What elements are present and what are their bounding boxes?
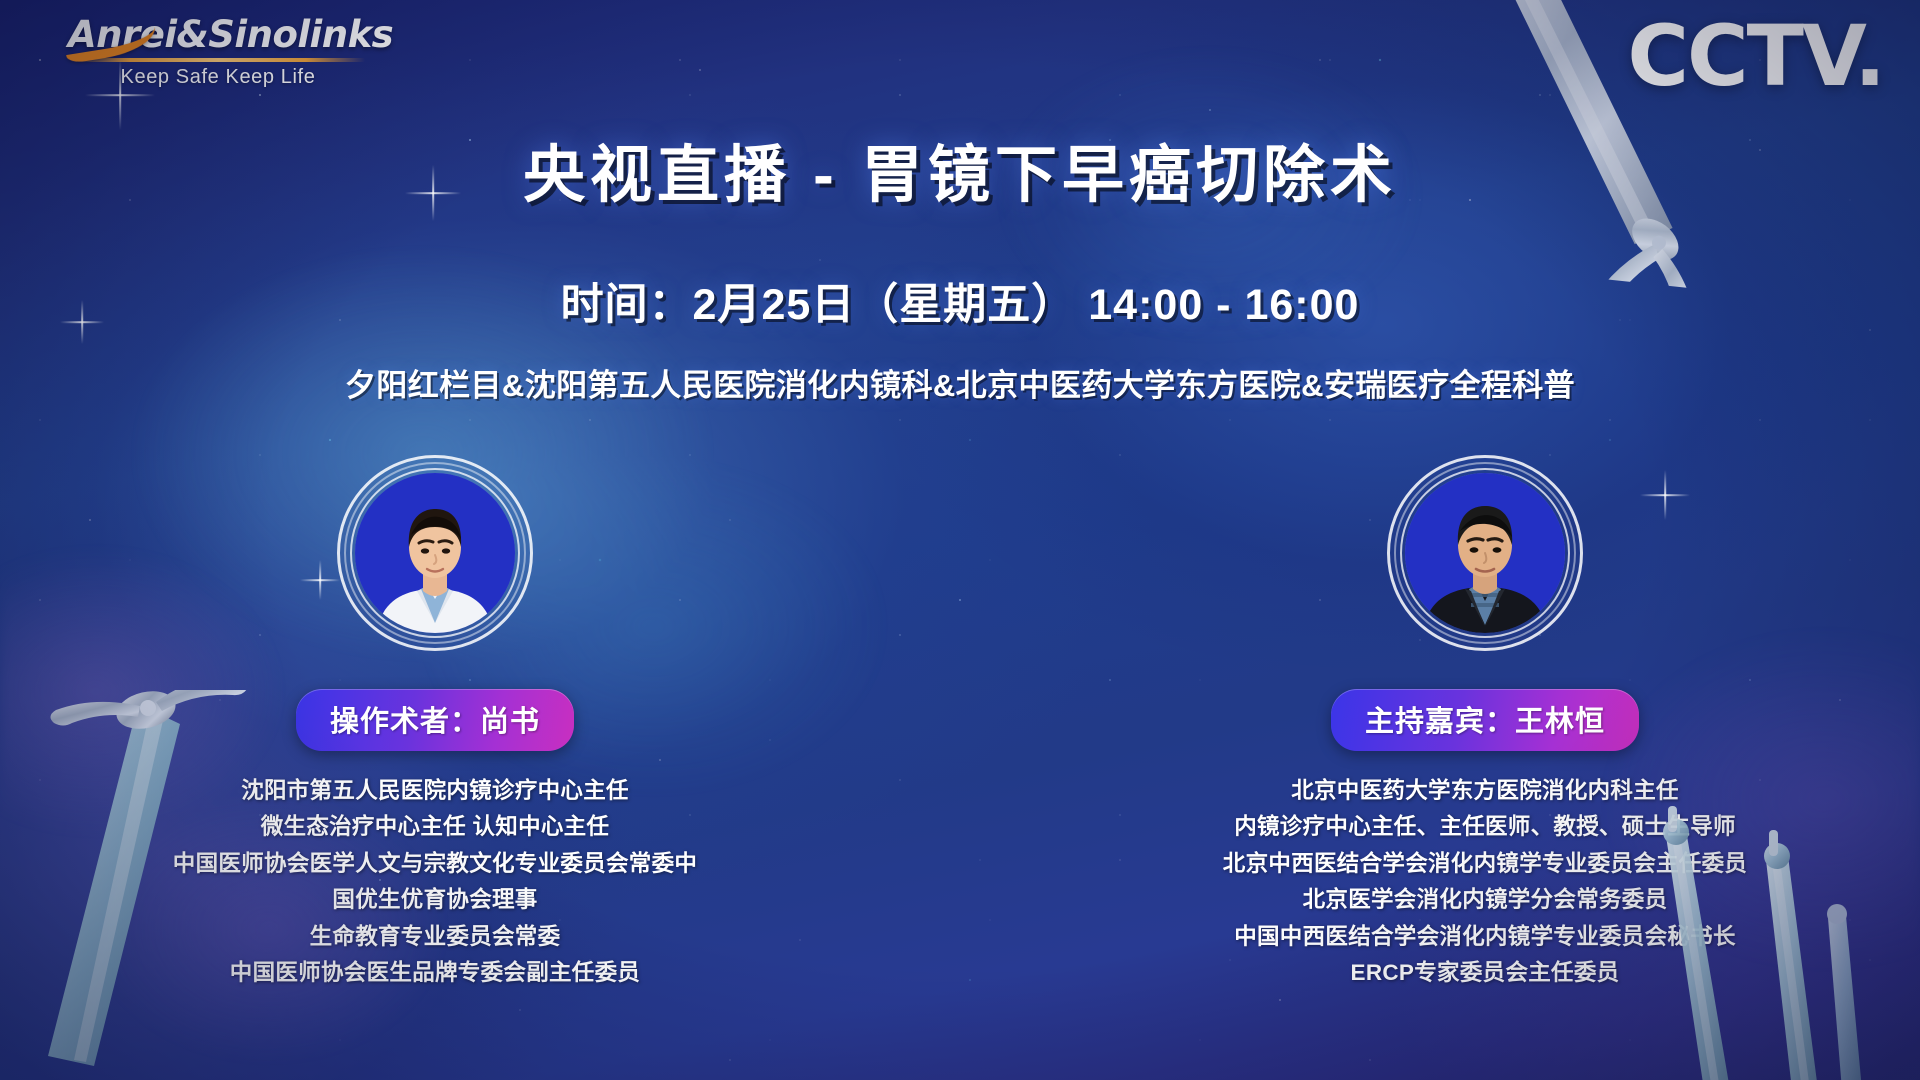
speaker-name-badge-host: 主持嘉宾：王林恒	[1331, 689, 1639, 751]
speaker-card-host: 主持嘉宾：王林恒 北京中医药大学东方医院消化内科主任 内镜诊疗中心主任、主任医师…	[1175, 455, 1795, 992]
event-partners: 夕阳红栏目&沈阳第五人民医院消化内镜科&北京中医药大学东方医院&安瑞医疗全程科普	[0, 360, 1920, 405]
bio-line: 中国中西医结合学会消化内镜学专业委员会秘书长	[1175, 919, 1795, 955]
brand-divider-rule	[71, 58, 365, 62]
bio-line: 生命教育专业委员会常委	[125, 919, 745, 955]
bio-line: ERCP专家委员会主任委员	[1175, 955, 1795, 991]
speaker-bio-host: 北京中医药大学东方医院消化内科主任 内镜诊疗中心主任、主任医师、教授、硕士生导师…	[1175, 773, 1795, 992]
speaker-name-badge-operator: 操作术者：尚书	[296, 689, 574, 751]
bio-line: 北京中医药大学东方医院消化内科主任	[1175, 773, 1795, 809]
bio-line: 中国医师协会医生品牌专委会副主任委员	[125, 955, 745, 991]
avatar	[1387, 455, 1583, 651]
avatar-photo-operator	[355, 473, 515, 633]
bio-line: 内镜诊疗中心主任、主任医师、教授、硕士生导师	[1175, 809, 1795, 845]
bio-line: 沈阳市第五人民医院内镜诊疗中心主任	[125, 773, 745, 809]
event-time: 时间：2月25日（星期五） 14:00 - 16:00	[0, 270, 1920, 332]
speaker-bio-operator: 沈阳市第五人民医院内镜诊疗中心主任 微生态治疗中心主任 认知中心主任 中国医师协…	[125, 773, 745, 992]
avatar-photo-host	[1405, 473, 1565, 633]
bio-line: 微生态治疗中心主任 认知中心主任	[125, 809, 745, 845]
live-broadcast-poster: Anrei&Sinolinks Keep Safe Keep Life CCTV…	[0, 0, 1920, 1080]
page-title: 央视直播 - 胃镜下早癌切除术	[0, 124, 1920, 214]
speaker-card-operator: 操作术者：尚书 沈阳市第五人民医院内镜诊疗中心主任 微生态治疗中心主任 认知中心…	[125, 455, 745, 992]
speakers-section: 操作术者：尚书 沈阳市第五人民医院内镜诊疗中心主任 微生态治疗中心主任 认知中心…	[0, 455, 1920, 992]
brand-logo: Anrei&Sinolinks Keep Safe Keep Life	[68, 16, 368, 89]
avatar	[337, 455, 533, 651]
bio-line: 北京中西医结合学会消化内镜学专业委员会主任委员	[1175, 846, 1795, 882]
bio-line: 国优生优育协会理事	[125, 882, 745, 918]
bio-line: 北京医学会消化内镜学分会常务委员	[1175, 882, 1795, 918]
brand-tagline: Keep Safe Keep Life	[68, 66, 368, 89]
bio-line: 中国医师协会医学人文与宗教文化专业委员会常委中	[125, 846, 745, 882]
brand-wordmark-container: Anrei&Sinolinks	[68, 16, 368, 55]
cctv-logo: CCTV.	[1627, 14, 1884, 98]
